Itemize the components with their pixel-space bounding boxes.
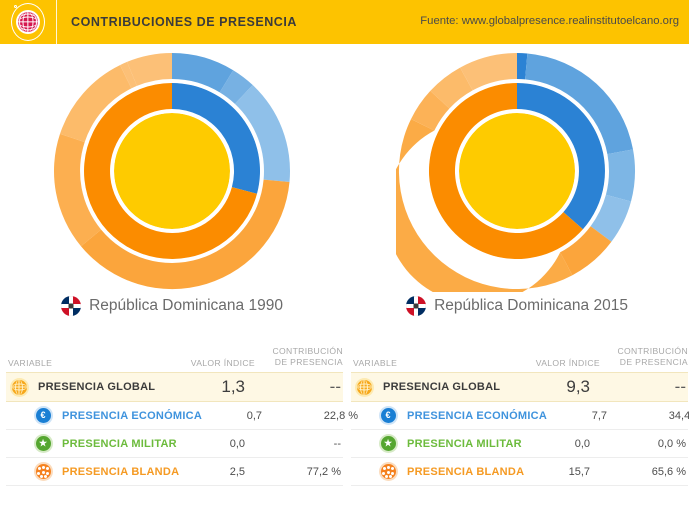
table-row-presencia-global[interactable]: PRESENCIA GLOBAL 9,3 -- [351,372,688,402]
tables-area: VARIABLE VALOR ÍNDICE CONTRIBUCIÓN DE PR… [0,340,689,517]
country-label-1990: República Dominicana 1990 [0,296,344,316]
row-icon-cell [377,464,399,479]
row-value: 0,0 [185,438,259,450]
col-header-contribucion: CONTRIBUCIÓN DE PRESENCIA [604,346,688,368]
table-row-presencia-economica[interactable]: € PRESENCIA ECONÓMICA 7,7 34,4 % [351,402,688,430]
table-1990: VARIABLE VALOR ÍNDICE CONTRIBUCIÓN DE PR… [6,340,343,486]
row-contribution: -- [604,377,688,397]
presence-contributions-page: CONTRIBUCIONES DE PRESENCIA Fuente: www.… [0,0,689,517]
row-label: PRESENCIA MILITAR [54,438,185,450]
country-name-2015: República Dominicana 2015 [434,297,628,315]
page-header: CONTRIBUCIONES DE PRESENCIA Fuente: www.… [0,0,689,44]
chart-panel-2015: República Dominicana 2015 [345,44,689,340]
col-header-contribucion-line2: DE PRESENCIA [259,357,343,368]
logo-container [0,0,56,44]
row-icon-cell: ★ [377,436,399,451]
donut-chart-1990 [51,50,293,292]
row-icon-cell: € [377,408,399,423]
row-value: 0,7 [202,410,276,422]
dominican-republic-flag-icon [406,296,426,316]
row-value: 15,7 [530,466,604,478]
table-header-2015: VARIABLE VALOR ÍNDICE CONTRIBUCIÓN DE PR… [351,340,688,372]
charts-area: República Dominicana 1990 [0,44,689,340]
col-header-valor-indice: VALOR ÍNDICE [191,358,255,368]
logo-accent-dot [14,5,17,8]
row-icon-cell [353,380,375,395]
header-divider [56,0,57,44]
globe-icon [357,380,372,395]
row-value: 1,3 [185,377,259,397]
table-row-presencia-economica[interactable]: € PRESENCIA ECONÓMICA 0,7 22,8 % [6,402,343,430]
table-row-presencia-militar[interactable]: ★ PRESENCIA MILITAR 0,0 -- [6,430,343,458]
table-row-presencia-global[interactable]: PRESENCIA GLOBAL 1,3 -- [6,372,343,402]
gear-icon [36,464,51,479]
row-value: 2,5 [185,466,259,478]
col-header-contribucion-line2: DE PRESENCIA [604,357,688,368]
row-value: 0,0 [530,438,604,450]
table-row-presencia-blanda[interactable]: PRESENCIA BLANDA 2,5 77,2 % [6,458,343,486]
donut-svg-1990 [51,50,293,292]
row-icon-cell [32,464,54,479]
row-contribution: 34,4 % [621,410,689,422]
source-attribution: Fuente: www.globalpresence.realinstituto… [420,15,679,27]
chart-panel-1990: República Dominicana 1990 [0,44,344,340]
row-contribution: 77,2 % [259,466,343,478]
donut-core-1990 [114,113,230,229]
row-value: 7,7 [547,410,621,422]
star-icon: ★ [36,436,51,451]
country-name-1990: República Dominicana 1990 [89,297,283,315]
col-header-variable: VARIABLE [353,358,397,368]
col-header-valor-indice: VALOR ÍNDICE [536,358,600,368]
donut-chart-2015 [396,50,638,292]
table-row-presencia-militar[interactable]: ★ PRESENCIA MILITAR 0,0 0,0 % [351,430,688,458]
row-contribution: -- [259,438,343,450]
star-icon: ★ [381,436,396,451]
logo-inner-disc [16,10,40,34]
dominican-republic-flag-icon [61,296,81,316]
row-label: PRESENCIA BLANDA [54,466,185,478]
donut-core-2015 [459,113,575,229]
row-contribution: -- [259,377,343,397]
row-value: 9,3 [530,377,604,397]
elcano-globe-logo [11,3,45,41]
row-contribution: 22,8 % [276,410,360,422]
page-title: CONTRIBUCIONES DE PRESENCIA [71,15,297,29]
row-icon-cell: € [32,408,54,423]
gear-icon [381,464,396,479]
table-2015: VARIABLE VALOR ÍNDICE CONTRIBUCIÓN DE PR… [351,340,688,486]
table-header-1990: VARIABLE VALOR ÍNDICE CONTRIBUCIÓN DE PR… [6,340,343,372]
euro-icon: € [381,408,396,423]
row-label: PRESENCIA GLOBAL [375,381,530,393]
table-row-presencia-blanda[interactable]: PRESENCIA BLANDA 15,7 65,6 % [351,458,688,486]
row-contribution: 65,6 % [604,466,688,478]
col-header-contribucion: CONTRIBUCIÓN DE PRESENCIA [259,346,343,368]
row-contribution: 0,0 % [604,438,688,450]
col-header-contribucion-line1: CONTRIBUCIÓN [259,346,343,357]
euro-icon: € [36,408,51,423]
row-label: PRESENCIA GLOBAL [30,381,185,393]
country-label-2015: República Dominicana 2015 [345,296,689,316]
row-icon-cell [8,380,30,395]
donut-svg-2015 [396,50,638,292]
col-header-variable: VARIABLE [8,358,52,368]
row-label: PRESENCIA ECONÓMICA [399,410,547,422]
row-label: PRESENCIA MILITAR [399,438,530,450]
globe-icon [18,12,38,32]
row-label: PRESENCIA BLANDA [399,466,530,478]
col-header-contribucion-line1: CONTRIBUCIÓN [604,346,688,357]
row-icon-cell: ★ [32,436,54,451]
row-label: PRESENCIA ECONÓMICA [54,410,202,422]
globe-icon [12,380,27,395]
